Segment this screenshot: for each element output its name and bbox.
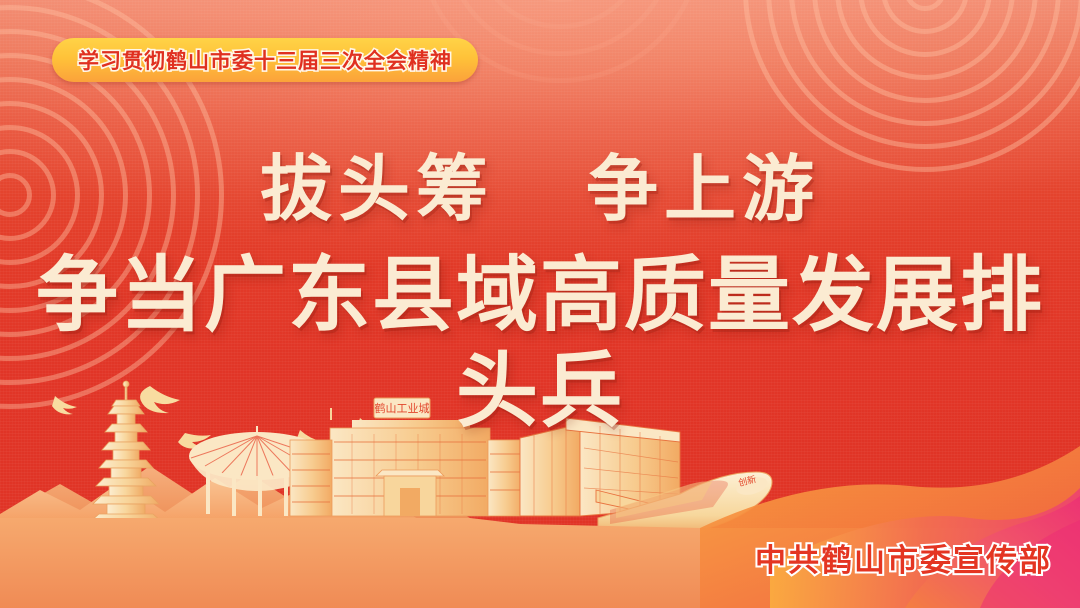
publisher-signature: 中共鹤山市委宣传部 — [755, 535, 1052, 580]
slogan-badge-label: 学习贯彻鹤山市委十三届三次全会精神 — [78, 45, 452, 75]
headline-line-1: 拔头筹 争上游 — [0, 148, 1080, 232]
headline-block: 拔头筹 争上游 争当广东县域高质量发展排头兵 — [0, 148, 1080, 440]
poster-canvas: 鹤山工业城 — [0, 0, 1080, 608]
headline-line-2: 争当广东县域高质量发展排头兵 — [0, 248, 1080, 440]
headline-line-1-part-2: 争上游 — [586, 150, 820, 230]
slogan-badge[interactable]: 学习贯彻鹤山市委十三届三次全会精神 — [52, 38, 478, 82]
wave-ribbons — [700, 446, 1080, 608]
headline-line-1-part-1: 拔头筹 — [260, 150, 494, 230]
